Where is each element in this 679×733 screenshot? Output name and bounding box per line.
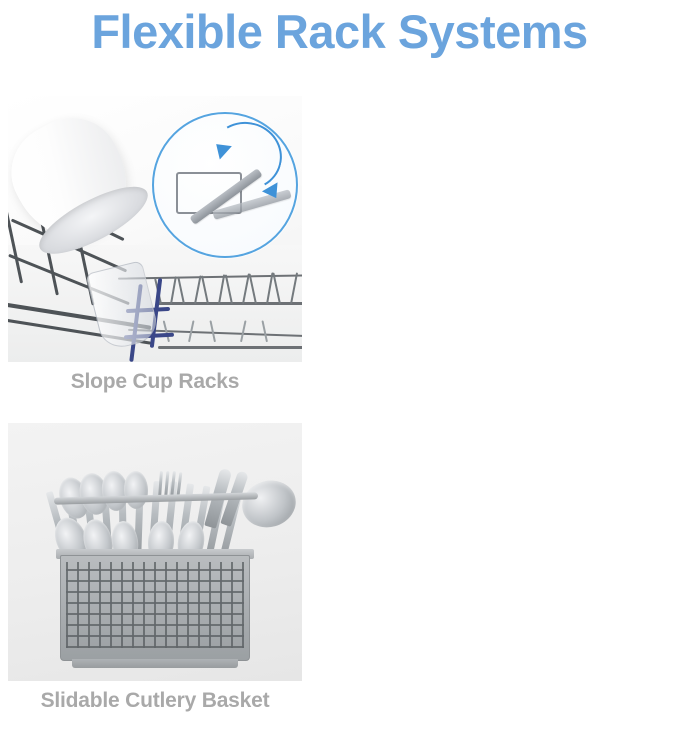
zoom-callout-circle (152, 112, 298, 258)
basket-foot (72, 659, 238, 668)
panel-image-slope-cup-racks (8, 96, 302, 362)
feature-cell-slope-cup-racks: Slope Cup Racks (0, 88, 340, 411)
panel-image-slidable-cutlery-basket (8, 423, 302, 681)
feature-cell-versatile-cup-shelves: Versatile Cup Shelves (340, 88, 679, 411)
feature-cell-foldable-flip-tines: Foldable Flip Tines (340, 411, 679, 733)
frame-bar (8, 207, 23, 284)
basket-mesh (66, 562, 244, 648)
feature-cell-slidable-cutlery-basket: Slidable Cutlery Basket (0, 411, 340, 733)
cutlery-basket (60, 555, 250, 661)
wire-rail (158, 346, 302, 349)
panel-caption-slidable-cutlery-basket: Slidable Cutlery Basket (0, 689, 310, 713)
page-title: Flexible Rack Systems (0, 0, 679, 72)
feature-grid: Slope Cup Racks (0, 88, 679, 733)
panel-caption-slope-cup-racks: Slope Cup Racks (0, 370, 310, 394)
